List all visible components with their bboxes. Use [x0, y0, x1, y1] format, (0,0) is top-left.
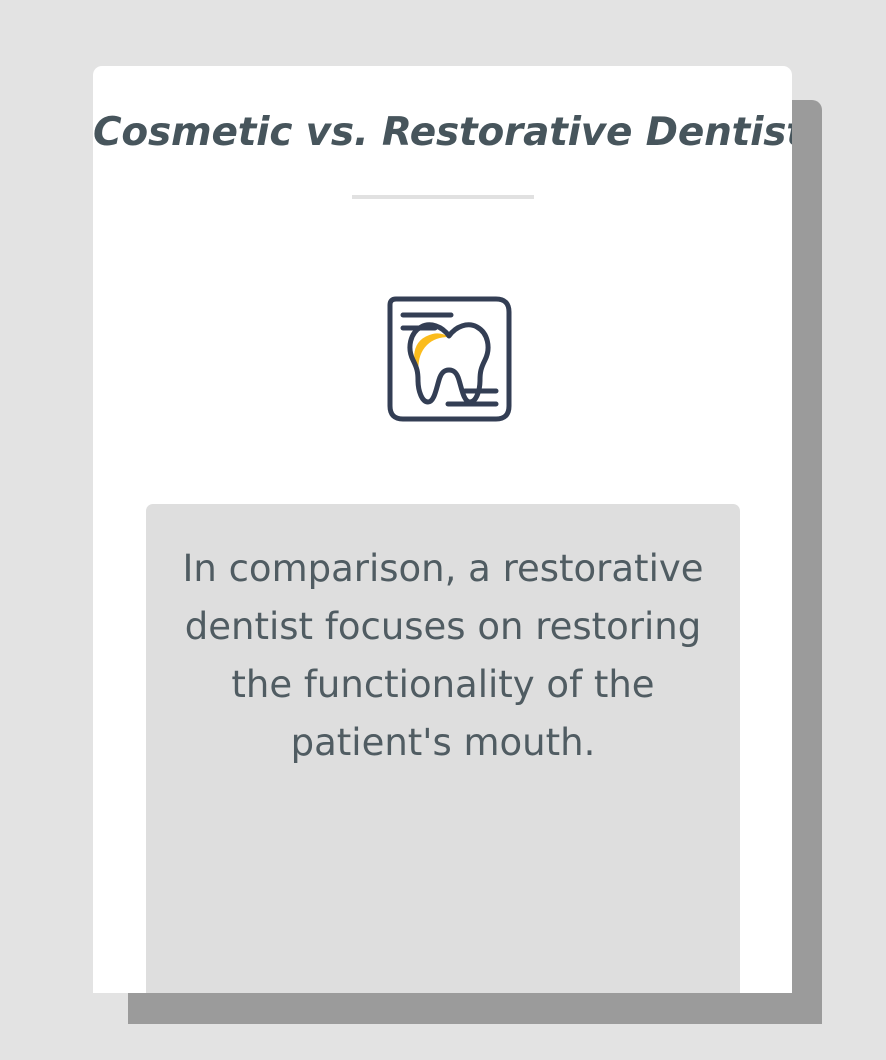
body-text-panel: In comparison, a restorative dentist foc…	[146, 504, 740, 993]
page-title: Cosmetic vs. Restorative Dentist	[93, 110, 792, 155]
title-divider	[352, 195, 534, 199]
body-text: In comparison, a restorative dentist foc…	[168, 540, 718, 772]
content-card: Cosmetic vs. Restorative Dentist In comp…	[93, 66, 792, 993]
slide-canvas: Cosmetic vs. Restorative Dentist In comp…	[0, 0, 886, 1060]
dental-xray-chart-icon	[370, 280, 516, 426]
